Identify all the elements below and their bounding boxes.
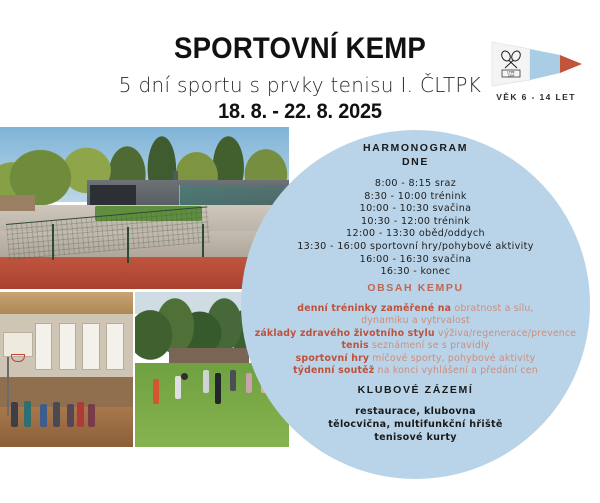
contents-row-bold: sportovní hry <box>296 353 370 364</box>
club-logo: LTPK 1904 VĚK 6 - 14 LET <box>480 38 592 110</box>
schedule-row: 16:30 - konec <box>241 266 590 279</box>
contents-row: týdenní soutěž na konci vyhlášení a před… <box>241 365 590 377</box>
facilities-list: restaurace, klubovna tělocvična, multifu… <box>241 406 590 444</box>
schedule-row: 10:30 - 12:00 trénink <box>241 216 590 229</box>
contents-row: dynamiku a vytrvalost <box>241 315 590 327</box>
schedule-row: 8:30 - 10:00 trénink <box>241 191 590 204</box>
schedule-row: 10:00 - 10:30 svačina <box>241 203 590 216</box>
svg-text:1904: 1904 <box>508 74 515 78</box>
schedule-heading-line1: HARMONOGRAM <box>241 142 590 154</box>
schedule-row: 12:00 - 13:30 oběd/oddych <box>241 228 590 241</box>
contents-heading: OBSAH KEMPU <box>241 282 590 294</box>
age-range-label: VĚK 6 - 14 LET <box>480 92 592 102</box>
facilities-heading-wrap: KLUBOVÉ ZÁZEMÍ <box>241 384 590 396</box>
contents-row-rest: na konci vyhlášení a předání cen <box>374 365 538 376</box>
pennant-flag-tennis-rackets-icon: LTPK 1904 <box>486 38 586 90</box>
contents-row-bold: základy zdravého životního stylu <box>255 328 435 339</box>
contents-row: sportovní hry míčové sporty, pohybové ak… <box>241 353 590 365</box>
schedule-list: 8:00 - 8:15 sraz 8:30 - 10:00 trénink 10… <box>241 178 590 279</box>
contents-row-bold: týdenní soutěž <box>293 365 374 376</box>
contents-list: denní tréninky zaměřené na obratnost a s… <box>241 303 590 377</box>
facilities-heading: KLUBOVÉ ZÁZEMÍ <box>241 384 590 396</box>
info-circle-content: HARMONOGRAM DNE 8:00 - 8:15 sraz 8:30 - … <box>241 130 590 479</box>
facilities-row: restaurace, klubovna <box>241 406 590 419</box>
contents-row: základy zdravého životního stylu výživa/… <box>241 328 590 340</box>
contents-row-rest: seznámení se s pravidly <box>369 340 490 351</box>
schedule-row: 16:00 - 16:30 svačina <box>241 254 590 267</box>
contents-heading-wrap: OBSAH KEMPU <box>241 282 590 294</box>
contents-row-rest: dynamiku a vytrvalost <box>361 315 470 326</box>
gymnasium-photo <box>0 292 133 447</box>
schedule-row: 8:00 - 8:15 sraz <box>241 178 590 191</box>
contents-row-rest: obratnost a sílu, <box>451 303 534 314</box>
contents-row-bold: denní tréninky zaměřené na <box>297 303 451 314</box>
schedule-heading-line2: DNE <box>241 156 590 168</box>
schedule-row: 13:30 - 16:00 sportovní hry/pohybové akt… <box>241 241 590 254</box>
contents-row-rest: výživa/regenerace/prevence <box>435 328 577 339</box>
contents-row-rest: míčové sporty, pohybové aktivity <box>369 353 535 364</box>
contents-row: tenis seznámení se s pravidly <box>241 340 590 352</box>
poster-root: SPORTOVNÍ KEMP 5 dní sportu s prvky teni… <box>0 0 600 503</box>
facilities-row: tělocvična, multifunkční hřiště <box>241 419 590 432</box>
contents-row: denní tréninky zaměřené na obratnost a s… <box>241 303 590 315</box>
schedule-heading: HARMONOGRAM DNE <box>241 142 590 168</box>
contents-row-bold: tenis <box>341 340 368 351</box>
facilities-row: tenisové kurty <box>241 432 590 445</box>
